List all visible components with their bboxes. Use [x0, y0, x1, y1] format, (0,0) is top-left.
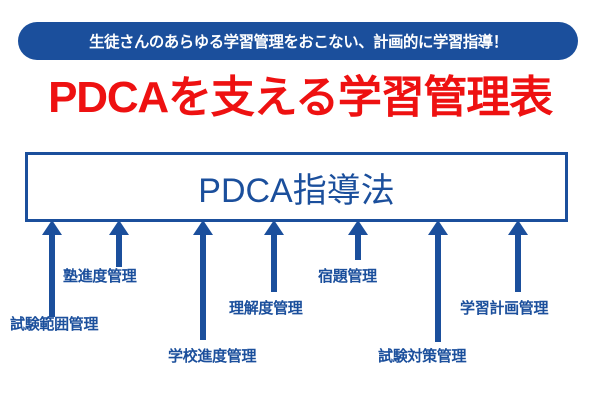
label-study-plan: 学習計画管理 — [460, 297, 548, 318]
arrow-up-exam-scope — [41, 220, 63, 317]
label-exam-prep: 試験対策管理 — [378, 345, 466, 366]
arrow-up-exam-prep — [427, 220, 449, 342]
label-cram-progress: 塾進度管理 — [63, 265, 137, 286]
banner-pill: 生徒さんのあらゆる学習管理をおこない、計画的に学習指導！ — [18, 22, 578, 60]
arrow-up-school-progress — [192, 220, 214, 340]
label-school-progress: 学校進度管理 — [168, 345, 256, 366]
arrow-up-study-plan — [507, 220, 529, 292]
pdca-method-box: PDCA指導法 — [25, 152, 568, 222]
label-homework: 宿題管理 — [318, 265, 377, 286]
page-title: PDCAを支える学習管理表 — [0, 72, 600, 124]
arrow-up-homework — [347, 220, 369, 260]
infographic-canvas: 生徒さんのあらゆる学習管理をおこない、計画的に学習指導！ PDCAを支える学習管… — [0, 0, 600, 400]
arrow-up-cram-progress — [108, 220, 130, 267]
label-exam-scope: 試験範囲管理 — [10, 313, 98, 334]
banner-text: 生徒さんのあらゆる学習管理をおこない、計画的に学習指導！ — [89, 30, 508, 52]
arrow-up-comprehension — [263, 220, 285, 292]
pdca-method-label: PDCA指導法 — [198, 163, 394, 212]
label-comprehension: 理解度管理 — [229, 297, 303, 318]
